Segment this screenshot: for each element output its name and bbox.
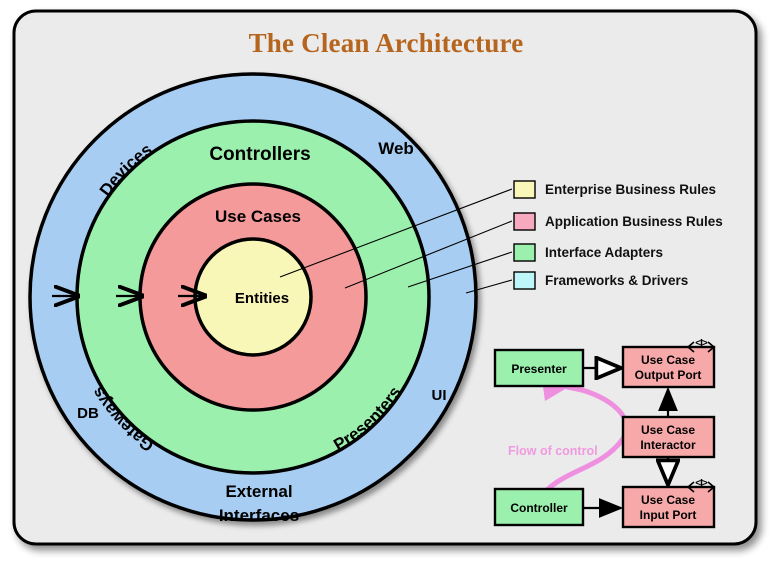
page-title: The Clean Architecture — [249, 28, 524, 58]
uml-label-output-port-line2: Output Port — [635, 368, 702, 382]
ring-label-controllers: Controllers — [209, 144, 310, 165]
uml-label-output-port-line1: Use Case — [641, 353, 695, 367]
uml-label-interactor-line1: Use Case — [641, 423, 695, 437]
uml-label-interactor-line2: Interactor — [640, 438, 696, 452]
legend-label-application: Application Business Rules — [545, 214, 723, 229]
legend-label-enterprise: Enterprise Business Rules — [545, 182, 716, 197]
ring-label-external: External — [225, 482, 292, 501]
legend-swatch-adapters — [514, 244, 535, 261]
uml-label-presenter: Presenter — [511, 362, 567, 376]
uml-box-use-case-interactor: Use Case Interactor — [623, 417, 714, 457]
ring-label-web: Web — [378, 139, 414, 158]
interface-marker-output-port: <I> — [695, 338, 708, 349]
legend-swatch-enterprise — [514, 181, 535, 198]
ring-label-db: DB — [77, 405, 99, 422]
uml-label-controller: Controller — [510, 501, 568, 515]
legend-swatch-frameworks — [514, 272, 535, 289]
legend-swatch-application — [514, 213, 535, 230]
uml-label-input-port-line2: Input Port — [640, 508, 697, 522]
ring-label-ui: UI — [432, 387, 447, 404]
uml-label-input-port-line1: Use Case — [641, 493, 695, 507]
uml-box-controller: Controller — [495, 489, 583, 525]
ring-label-interfaces: Interfaces — [219, 506, 299, 525]
legend-label-frameworks: Frameworks & Drivers — [545, 273, 688, 288]
ring-label-entities: Entities — [235, 290, 289, 307]
ring-label-use-cases: Use Cases — [215, 207, 301, 226]
legend-item-enterprise-business-rules: Enterprise Business Rules — [514, 181, 716, 198]
uml-box-presenter: Presenter — [495, 350, 583, 386]
interface-marker-input-port: <I> — [695, 478, 708, 489]
legend-item-application-business-rules: Application Business Rules — [514, 213, 723, 230]
flow-of-control-label: Flow of control — [508, 444, 598, 458]
legend-label-adapters: Interface Adapters — [545, 245, 663, 260]
diagram-canvas: The Clean Architecture Controllers Use C… — [0, 0, 772, 567]
